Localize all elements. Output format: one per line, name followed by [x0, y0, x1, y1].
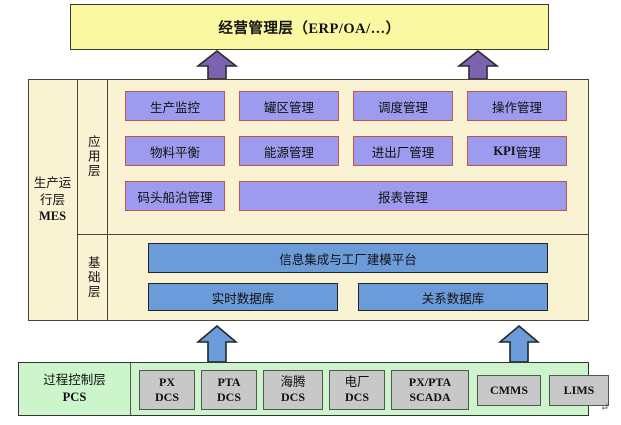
base-module-relational-database[interactable]: 关系数据库 — [358, 283, 548, 311]
business-management-layer-box[interactable]: 经营管理层（ERP/OA/…） — [70, 4, 549, 50]
app-module-operation-management[interactable]: 操作管理 — [467, 91, 567, 121]
app-module-report-management[interactable]: 报表管理 — [239, 181, 567, 211]
pcs-item-px-dcs[interactable]: PX DCS — [139, 370, 195, 410]
mes-side-label-line2: 行层 — [34, 192, 72, 209]
pcs-item-list: PX DCS PTA DCS 海腾 DCS 电厂 DCS PX/PTA SCAD… — [131, 363, 588, 415]
process-control-layer-container: 过程控制层 PCS PX DCS PTA DCS 海腾 DCS 电厂 DCS — [18, 362, 589, 416]
app-module-wharf-berth-management[interactable]: 码头船泊管理 — [125, 181, 225, 211]
pcs-item-cmms[interactable]: CMMS — [477, 375, 541, 406]
base-layer-modules: 信息集成与工厂建模平台 实时数据库 关系数据库 — [108, 235, 589, 321]
kpi-prefix: KPI — [493, 144, 515, 159]
app-module-tank-farm-management[interactable]: 罐区管理 — [239, 91, 339, 121]
application-layer-label: 应用层 — [86, 135, 99, 179]
base-layer-region: 基础层 信息集成与工厂建模平台 实时数据库 关系数据库 — [78, 235, 589, 321]
kpi-suffix: 管理 — [516, 142, 541, 161]
app-module-material-balance[interactable]: 物料平衡 — [125, 136, 225, 166]
pcs-label-line1: 过程控制层 — [43, 372, 106, 389]
pcs-item-power-plant-dcs[interactable]: 电厂 DCS — [329, 370, 385, 410]
app-module-inbound-outbound-management[interactable]: 进出厂管理 — [353, 136, 453, 166]
diagram-canvas: 经营管理层（ERP/OA/…） 生产运 行层 MES 应用层 生产监控 — [0, 0, 621, 425]
pcs-item-px-pta-scada[interactable]: PX/PTA SCADA — [391, 370, 469, 410]
app-module-energy-management[interactable]: 能源管理 — [239, 136, 339, 166]
pilcrow-mark: ↵ — [600, 401, 609, 414]
base-module-integration-platform[interactable]: 信息集成与工厂建模平台 — [148, 243, 548, 273]
business-management-layer-label: 经营管理层（ERP/OA/…） — [218, 17, 400, 38]
pcs-label: 过程控制层 PCS — [19, 363, 131, 415]
base-layer-label: 基础层 — [86, 256, 99, 300]
mes-side-label-line1: 生产运 — [34, 175, 72, 192]
pcs-item-pta-dcs[interactable]: PTA DCS — [201, 370, 257, 410]
application-layer-label-column: 应用层 — [78, 79, 108, 234]
app-module-production-monitoring[interactable]: 生产监控 — [125, 91, 225, 121]
app-module-kpi-management[interactable]: KPI管理 — [467, 136, 567, 166]
upper-right-up-arrow-icon — [457, 50, 499, 80]
app-module-scheduling-management[interactable]: 调度管理 — [353, 91, 453, 121]
mes-side-label-line3: MES — [39, 209, 66, 223]
mes-side-label: 生产运 行层 MES — [28, 79, 78, 321]
upper-left-up-arrow-icon — [196, 50, 238, 80]
base-module-realtime-database[interactable]: 实时数据库 — [148, 283, 338, 311]
application-layer-region: 应用层 生产监控 罐区管理 调度管理 操作管理 物料平衡 能源管理 — [78, 79, 589, 235]
pcs-label-line2: PCS — [63, 390, 87, 404]
lower-right-up-arrow-icon — [498, 325, 540, 363]
base-layer-label-column: 基础层 — [78, 235, 108, 321]
application-layer-modules: 生产监控 罐区管理 调度管理 操作管理 物料平衡 能源管理 进出厂管理 KP — [108, 79, 589, 234]
lower-left-up-arrow-icon — [196, 325, 238, 363]
pcs-item-haiteng-dcs[interactable]: 海腾 DCS — [263, 370, 323, 410]
